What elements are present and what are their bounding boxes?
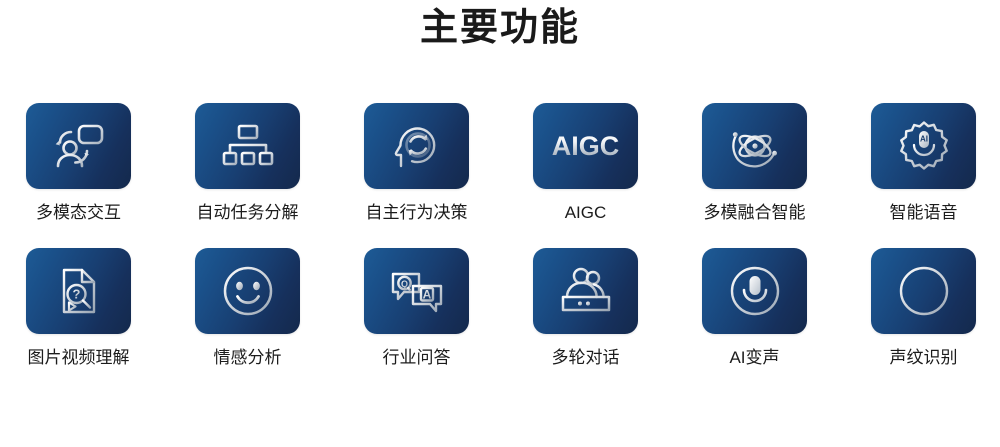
feature-tile[interactable] [702,103,807,189]
feature-tile[interactable]: ? [26,248,131,334]
feature-item-multimodal-interaction[interactable]: 多模态交互 [26,103,131,224]
person-speech-bubble-sync-icon [50,120,108,172]
feature-tile[interactable] [871,248,976,334]
feature-label: 多模态交互 [36,202,121,224]
feature-tile[interactable] [533,248,638,334]
feature-label: 声纹识别 [890,347,958,369]
svg-text:A: A [422,288,431,302]
two-people-table-icon [558,267,614,315]
voiceprint-waveform-circle-icon [897,264,951,318]
feature-label: 自主行为决策 [366,202,468,224]
feature-label: 情感分析 [214,347,282,369]
document-magnifier-question-icon: ? [55,264,103,318]
svg-text:?: ? [72,287,80,302]
feature-item-aigc[interactable]: AIGC AIGC [533,103,638,224]
aigc-text-icon: AIGC [552,131,620,162]
feature-tile[interactable] [702,248,807,334]
smiley-face-icon [221,264,275,318]
svg-text:Q: Q [400,279,407,289]
org-chart-hierarchy-icon [222,122,274,170]
feature-label: 多模融合智能 [704,202,806,224]
feature-item-multi-turn-dialogue[interactable]: 多轮对话 [533,248,638,369]
feature-item-autonomous-decision[interactable]: 自主行为决策 [364,103,469,224]
feature-label: 多轮对话 [552,347,620,369]
microphone-circle-icon [728,264,782,318]
feature-item-intelligent-voice[interactable]: AI 智能语音 [871,103,976,224]
feature-label: 图片视频理解 [28,347,130,369]
svg-text:AI: AI [920,135,928,144]
feature-item-multimodal-fusion[interactable]: 多模融合智能 [702,103,807,224]
feature-item-voiceprint-recognition[interactable]: 声纹识别 [871,248,976,369]
feature-tile[interactable] [364,103,469,189]
atom-orbit-icon [727,120,783,172]
gear-microphone-ai-icon: AI [897,119,951,173]
feature-tile[interactable] [26,103,131,189]
feature-grid: 多模态交互 [26,103,977,369]
qa-speech-bubbles-icon: Q A [389,265,445,317]
feature-tile[interactable]: Q A [364,248,469,334]
feature-item-ai-voice-change[interactable]: AI变声 [702,248,807,369]
head-refresh-cycle-icon [391,120,443,172]
feature-tile[interactable]: AIGC [533,103,638,189]
feature-tile[interactable] [195,103,300,189]
feature-item-image-video-understanding[interactable]: ? 图片视频理解 [26,248,131,369]
feature-tile[interactable] [195,248,300,334]
feature-label: 自动任务分解 [197,202,299,224]
page-title: 主要功能 [0,2,1000,54]
feature-item-sentiment-analysis[interactable]: 情感分析 [195,248,300,369]
feature-label: 行业问答 [383,347,451,369]
feature-label: 智能语音 [890,202,958,224]
feature-tile[interactable]: AI [871,103,976,189]
feature-label: AI变声 [729,347,779,369]
feature-item-industry-qa[interactable]: Q A 行业问答 [364,248,469,369]
feature-item-task-decomposition[interactable]: 自动任务分解 [195,103,300,224]
feature-label: AIGC [565,202,607,224]
